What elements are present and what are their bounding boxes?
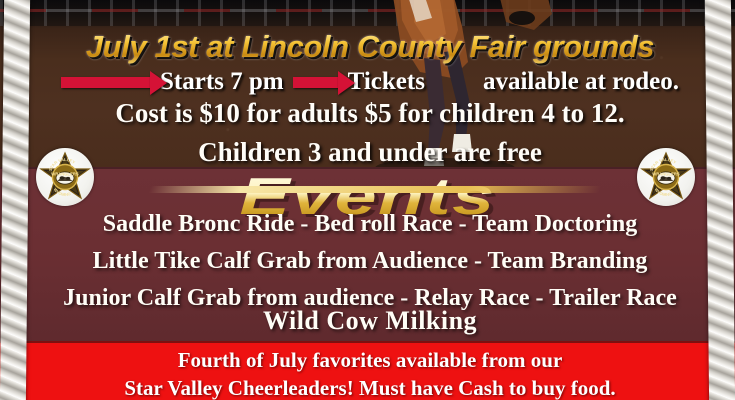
start-time-label: Starts 7 pm <box>160 68 284 96</box>
event-list-item: Saddle Bronc Ride - Bed roll Race - Team… <box>28 211 712 238</box>
sheriff-star-badge-icon: STAR VALLEY WYOMING WRANGLERS <box>637 148 695 206</box>
cost-line-adults-children: Cost is $10 for adults $5 for children 4… <box>34 98 706 129</box>
event-list-item: Little Tike Calf Grab from Audience - Te… <box>28 248 712 275</box>
right-arrow-icon <box>61 77 151 88</box>
footer-line-one: Fourth of July favorites available from … <box>28 348 712 373</box>
sheriff-star-badge-icon: STAR VALLEY WYOMING WRANGLERS <box>36 148 94 206</box>
page-title: July 1st at Lincoln County Fair grounds <box>34 29 706 65</box>
rope-border-right <box>705 0 735 400</box>
tickets-label: Tickets <box>348 68 425 96</box>
footer-line-two: Star Valley Cheerleaders! Must have Cash… <box>28 376 712 400</box>
right-arrow-icon <box>293 77 339 88</box>
svg-text:WRANGLERS: WRANGLERS <box>51 171 79 176</box>
arena-fence-rail <box>0 0 735 26</box>
cost-line-free-children: Children 3 and under are free <box>34 137 706 168</box>
event-list-item: Wild Cow Milking <box>28 306 712 336</box>
rope-border-left <box>0 0 30 400</box>
start-time-row: Starts 7 pm Tickets available at rodeo. <box>34 68 706 96</box>
rodeo-event-poster: July 1st at Lincoln County Fair grounds … <box>0 0 735 400</box>
tickets-availability-label: available at rodeo. <box>483 68 679 96</box>
svg-text:WRANGLERS: WRANGLERS <box>652 171 680 176</box>
